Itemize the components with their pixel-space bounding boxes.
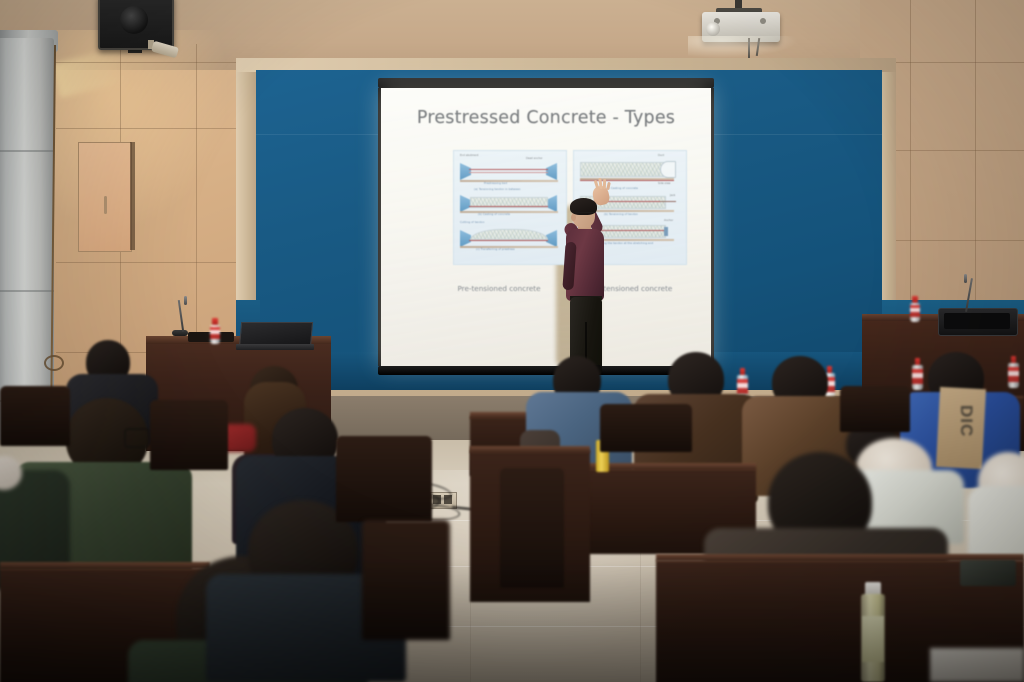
bottle-label (862, 616, 884, 662)
wall-seam (56, 128, 250, 129)
lecture-hall-photo: Prestressed Concrete - Types End abutmen… (0, 0, 1024, 682)
chair-back[interactable] (500, 468, 564, 588)
microphone-head (184, 296, 187, 305)
tea-bottle[interactable] (860, 582, 886, 682)
cabinet-handle[interactable] (104, 196, 107, 214)
screen-bottom-bar (378, 366, 714, 375)
water-bottle[interactable] (910, 296, 920, 322)
presenter-laptop-base[interactable] (236, 344, 314, 350)
screen-edge (711, 88, 714, 366)
microphone-base (172, 330, 188, 336)
screen-housing (378, 78, 714, 88)
chair-back[interactable] (0, 386, 70, 446)
torso (968, 486, 1024, 556)
chair-back[interactable] (150, 400, 228, 470)
water-bottle[interactable] (912, 358, 923, 390)
column-joint (0, 150, 54, 152)
chair-back[interactable] (336, 436, 432, 522)
projection-light-wash (381, 88, 711, 366)
column-joint (0, 290, 54, 292)
paper-sheet (930, 648, 1024, 682)
glasses-icon (575, 212, 595, 217)
glasses-icon (124, 428, 150, 448)
water-bottle[interactable] (210, 318, 220, 344)
projector-light-glow (688, 36, 798, 58)
desk-top (0, 562, 210, 569)
chair-back[interactable] (362, 520, 450, 640)
presenter (556, 196, 626, 376)
water-bottle[interactable] (1008, 356, 1019, 388)
smartphone-on-desk[interactable] (960, 560, 1016, 586)
cabinet-shadow (130, 142, 135, 250)
speaker-cone (120, 6, 148, 34)
jacket-text: DIC (946, 392, 976, 450)
chair-back[interactable] (600, 404, 692, 452)
projector-lens (706, 22, 720, 36)
podium-monitor-screen (944, 313, 1010, 329)
wall-seam (56, 262, 250, 263)
projector-knob (760, 18, 766, 24)
wall-cable-loop (44, 355, 64, 371)
chair-back[interactable] (840, 386, 910, 432)
desk-top (470, 446, 590, 453)
microphone-head (964, 274, 967, 283)
